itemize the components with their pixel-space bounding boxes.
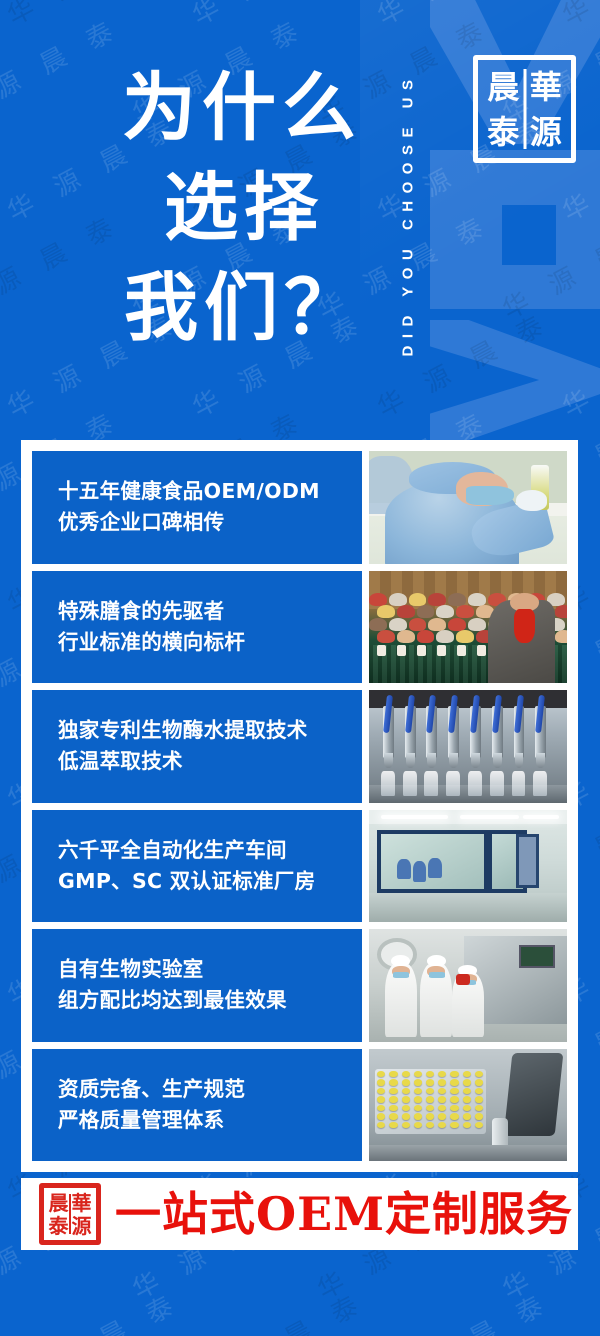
photo-red-object — [456, 974, 470, 985]
photo-tablet — [414, 1105, 422, 1112]
photo-machine-arm — [503, 1053, 563, 1136]
photo-crowd-person — [428, 593, 446, 606]
seal-char-4: 源 — [525, 109, 568, 154]
photo-tablet — [475, 1096, 483, 1103]
photo-tablet — [450, 1105, 458, 1112]
photo-cleanroom-door — [516, 834, 540, 888]
photo-tablet — [377, 1088, 385, 1095]
feature-text-block: 独家专利生物酶水提取技术 低温萃取技术 — [32, 690, 362, 803]
photo-tablet — [450, 1113, 458, 1120]
photo-tablet — [438, 1122, 446, 1129]
photo-content — [369, 571, 567, 684]
photo-nozzle — [493, 753, 502, 768]
photo-tablet — [402, 1071, 410, 1078]
bottom-service-banner: 晨 華 泰 源 一站式OEM定制服务 — [21, 1178, 578, 1250]
photo-tablet — [377, 1079, 385, 1086]
photo-bottle — [424, 771, 438, 796]
photo-nozzle — [471, 753, 480, 768]
photo-cup — [397, 645, 406, 656]
feature-line-1: 特殊膳食的先驱者 — [58, 596, 362, 627]
brand-seal-red: 晨 華 泰 源 — [39, 1183, 101, 1245]
photo-tablet — [438, 1113, 446, 1120]
photo-tablet — [414, 1113, 422, 1120]
photo-tablet — [389, 1079, 397, 1086]
feature-row: 自有生物实验室 组方配比均达到最佳效果 — [32, 929, 567, 1042]
photo-crowd-person — [389, 618, 407, 631]
photo-cleanroom-worker — [397, 859, 411, 879]
banner-slogan: 一站式OEM定制服务 — [115, 1191, 573, 1237]
photo-nozzle — [515, 753, 524, 768]
photo-content — [369, 451, 567, 564]
feature-line-2: GMP、SC 双认证标准厂房 — [58, 866, 362, 897]
photo-worker-mask — [429, 972, 445, 979]
photo-tablet — [377, 1105, 385, 1112]
photo-cup — [377, 645, 386, 656]
photo-bottle — [490, 771, 504, 796]
photo-crowd-person — [555, 630, 567, 643]
feature-line-1: 自有生物实验室 — [58, 954, 362, 985]
photo-tablet — [426, 1071, 434, 1078]
photo-tablet — [389, 1122, 397, 1129]
photo-tablet — [426, 1079, 434, 1086]
photo-tablet — [438, 1079, 446, 1086]
photo-tablet — [402, 1122, 410, 1129]
feature-text-block: 十五年健康食品OEM/ODM 优秀企业口碑相传 — [32, 451, 362, 564]
photo-glove — [516, 490, 548, 510]
feature-card: 十五年健康食品OEM/ODM 优秀企业口碑相传 特殊膳食的先驱者 行业标准的横向… — [21, 440, 578, 1172]
photo-tablet — [426, 1122, 434, 1129]
photo-tablet — [414, 1122, 422, 1129]
photo-bottle — [403, 771, 417, 796]
photo-content — [369, 810, 567, 923]
photo-nozzle — [536, 753, 545, 768]
photo-cleanroom-worker — [413, 861, 427, 881]
photo-bottle — [446, 771, 460, 796]
photo-crowd-person — [397, 630, 415, 643]
vertical-english-subtitle: DID YOU CHOOSE US — [392, 34, 424, 394]
photo-tablet — [389, 1088, 397, 1095]
photo-conference-audience — [369, 571, 567, 684]
photo-tablet — [450, 1088, 458, 1095]
seal-char-4: 源 — [70, 1214, 93, 1237]
photo-tablet — [450, 1079, 458, 1086]
seal-char-1: 晨 — [482, 64, 525, 109]
feature-row: 十五年健康食品OEM/ODM 优秀企业口碑相传 — [32, 451, 567, 564]
photo-crowd-person — [468, 593, 486, 606]
photo-tablet — [463, 1079, 471, 1086]
photo-cup — [437, 645, 446, 656]
photo-tablet — [450, 1071, 458, 1078]
title-line-3: 我们？ — [92, 258, 392, 358]
photo-worker-1 — [385, 963, 417, 1037]
photo-tablet — [438, 1105, 446, 1112]
photo-content — [369, 929, 567, 1042]
photo-cup — [417, 645, 426, 656]
photo-bottle — [468, 771, 482, 796]
photo-tablet — [389, 1113, 397, 1120]
photo-tablet — [402, 1096, 410, 1103]
photo-crowd-person — [468, 618, 486, 631]
photo-tablets — [375, 1069, 486, 1134]
photo-nozzle — [449, 753, 458, 768]
photo-tablet — [389, 1071, 397, 1078]
photo-control-screen — [519, 945, 555, 968]
photo-crowd-person — [428, 618, 446, 631]
photo-crowd-person — [369, 618, 387, 631]
photo-staff-at-packing-line — [369, 929, 567, 1042]
photo-tablet — [438, 1088, 446, 1095]
vertical-english-text: DID YOU CHOOSE US — [400, 72, 417, 356]
photo-tablet — [463, 1096, 471, 1103]
photo-tablet — [463, 1122, 471, 1129]
feature-row: 独家专利生物酶水提取技术 低温萃取技术 — [32, 690, 567, 803]
photo-content — [369, 1049, 567, 1162]
photo-crowd-person — [456, 605, 474, 618]
photo-worker-2 — [420, 963, 452, 1037]
photo-crowd-person — [448, 593, 466, 606]
photo-bottle — [381, 771, 395, 796]
photo-tablet — [402, 1088, 410, 1095]
photo-crowd-person — [397, 605, 415, 618]
photo-crowd-person — [448, 618, 466, 631]
photo-tablet — [426, 1096, 434, 1103]
photo-tablet — [475, 1088, 483, 1095]
photo-crowd-person — [417, 630, 435, 643]
photo-tablet — [475, 1071, 483, 1078]
photo-crowd-person — [417, 605, 435, 618]
photo-crowd-person — [389, 593, 407, 606]
photo-tablet — [377, 1113, 385, 1120]
photo-tablet — [463, 1105, 471, 1112]
photo-lab-technician-inspecting-vial — [369, 451, 567, 564]
photo-crowd-person — [409, 618, 427, 631]
photo-crowd-person — [436, 605, 454, 618]
feature-line-2: 组方配比均达到最佳效果 — [58, 985, 362, 1016]
seal-char-1: 晨 — [47, 1191, 70, 1214]
photo-nozzle — [427, 753, 436, 768]
photo-liquid-filling-machine — [369, 690, 567, 803]
photo-tablet — [438, 1071, 446, 1078]
photo-crowd-person — [377, 605, 395, 618]
seal-divider — [69, 1194, 71, 1234]
photo-cleanroom-corridor — [369, 810, 567, 923]
poster-header: 为什么 选择 我们？ DID YOU CHOOSE US 晨 華 泰 源 — [0, 0, 600, 440]
photo-tablet — [414, 1096, 422, 1103]
photo-tablet — [463, 1071, 471, 1078]
photo-tablet — [389, 1096, 397, 1103]
photo-crowd-person — [436, 630, 454, 643]
photo-content — [369, 690, 567, 803]
photo-crowd-person — [377, 630, 395, 643]
photo-worker-mask — [393, 972, 409, 979]
photo-cup — [457, 645, 466, 656]
photo-tablet — [377, 1096, 385, 1103]
photo-crowd-person — [409, 593, 427, 606]
photo-floor — [369, 893, 567, 922]
photo-tablet — [389, 1105, 397, 1112]
photo-tablet — [463, 1113, 471, 1120]
photo-conveyor-belt — [369, 1145, 567, 1161]
photo-tablet — [450, 1122, 458, 1129]
seal-divider — [523, 69, 526, 149]
photo-tablet — [377, 1071, 385, 1078]
photo-tablet — [426, 1105, 434, 1112]
feature-text-block: 资质完备、生产规范 严格质量管理体系 — [32, 1049, 362, 1162]
photo-tablet — [450, 1096, 458, 1103]
seal-char-2: 華 — [70, 1191, 93, 1214]
photo-nozzle — [384, 753, 393, 768]
feature-text-block: 六千平全自动化生产车间 GMP、SC 双认证标准厂房 — [32, 810, 362, 923]
feature-line-1: 资质完备、生产规范 — [58, 1074, 362, 1105]
photo-tablet — [475, 1113, 483, 1120]
photo-ceiling-light — [523, 815, 559, 819]
photo-tablet — [475, 1105, 483, 1112]
photo-tablet — [475, 1079, 483, 1086]
photo-face-mask — [466, 486, 514, 505]
photo-ceiling-light — [381, 815, 448, 819]
photo-bottle — [533, 771, 547, 796]
page-title: 为什么 选择 我们？ — [92, 58, 392, 358]
photo-ceiling-light — [460, 815, 519, 819]
feature-line-2: 低温萃取技术 — [58, 746, 362, 777]
photo-cleanroom-worker — [428, 858, 442, 878]
feature-text-block: 自有生物实验室 组方配比均达到最佳效果 — [32, 929, 362, 1042]
photo-tablet — [402, 1105, 410, 1112]
feature-line-2: 严格质量管理体系 — [58, 1105, 362, 1136]
title-line-2: 选择 — [92, 158, 392, 258]
photo-blister-packing-tablets — [369, 1049, 567, 1162]
feature-line-2: 优秀企业口碑相传 — [58, 507, 362, 538]
feature-line-1: 六千平全自动化生产车间 — [58, 835, 362, 866]
photo-tablet — [426, 1113, 434, 1120]
seal-char-2: 華 — [525, 64, 568, 109]
photo-crowd-person — [369, 593, 387, 606]
feature-row: 特殊膳食的先驱者 行业标准的横向标杆 — [32, 571, 567, 684]
photo-tablet — [414, 1079, 422, 1086]
photo-red-scarf — [514, 609, 536, 643]
photo-tablet — [414, 1088, 422, 1095]
photo-tablet — [475, 1122, 483, 1129]
feature-text-block: 特殊膳食的先驱者 行业标准的横向标杆 — [32, 571, 362, 684]
feature-row: 六千平全自动化生产车间 GMP、SC 双认证标准厂房 — [32, 810, 567, 923]
seal-char-3: 泰 — [482, 109, 525, 154]
brand-seal-white: 晨 華 泰 源 — [473, 55, 576, 163]
photo-tablet — [377, 1122, 385, 1129]
photo-crowd-person — [456, 630, 474, 643]
photo-crowd-person — [555, 605, 567, 618]
photo-tablet — [463, 1088, 471, 1095]
feature-line-2: 行业标准的横向标杆 — [58, 627, 362, 658]
photo-tablet — [438, 1096, 446, 1103]
photo-nozzle — [406, 753, 415, 768]
photo-tablet — [414, 1071, 422, 1078]
feature-line-1: 独家专利生物酶水提取技术 — [58, 715, 362, 746]
photo-tablet — [402, 1113, 410, 1120]
photo-bottle — [512, 771, 526, 796]
photo-tablet — [426, 1088, 434, 1095]
title-line-1: 为什么 — [92, 58, 392, 158]
photo-tablet — [402, 1079, 410, 1086]
feature-line-1: 十五年健康食品OEM/ODM — [58, 476, 362, 507]
photo-cup — [477, 645, 486, 656]
feature-row: 资质完备、生产规范 严格质量管理体系 — [32, 1049, 567, 1162]
seal-char-3: 泰 — [47, 1214, 70, 1237]
